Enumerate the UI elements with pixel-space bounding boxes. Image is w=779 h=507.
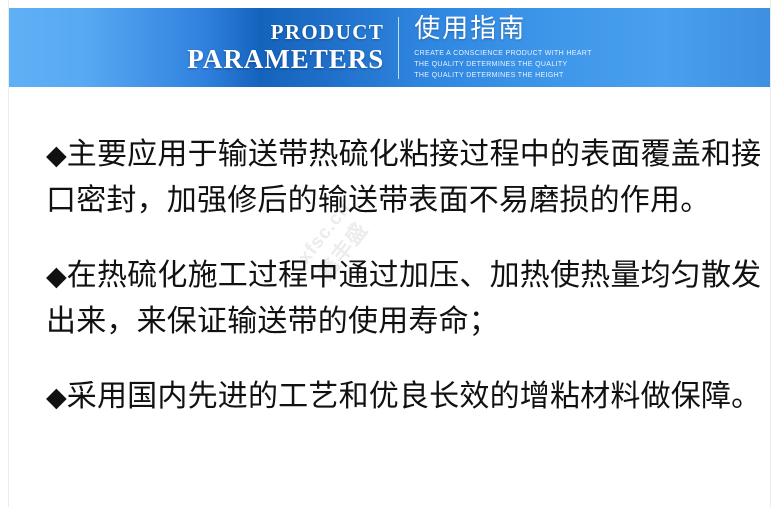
header-subtitle-line-3: THE QUALITY DETERMINES THE HEIGHT (414, 70, 591, 81)
header-chinese-block: 使用指南 CREATE A CONSCIENCE PRODUCT WITH HE… (399, 14, 591, 81)
description-paragraph-1: ◆主要应用于输送带热硫化粘接过程中的表面覆盖和接口密封，加强修后的输送带表面不易… (46, 132, 766, 223)
header-subtitle-line-1: CREATE A CONSCIENCE PRODUCT WITH HEART (414, 48, 591, 59)
header-subtitle-line-2: THE QUALITY DETERMINES THE QUALITY (414, 59, 591, 70)
bullet-diamond-icon-3: ◆ (46, 382, 67, 412)
page-border-right (770, 0, 771, 507)
description-paragraph-2: ◆在热硫化施工过程中通过加压、加热使热量均匀散发出来，来保证输送带的使用寿命； (46, 253, 766, 344)
description-content: ◆主要应用于输送带热硫化粘接过程中的表面覆盖和接口密封，加强修后的输送带表面不易… (46, 102, 766, 450)
description-paragraph-3-text: 采用国内先进的工艺和优良长效的增粘材料做保障。 (67, 380, 762, 413)
header-chinese-title: 使用指南 (414, 14, 591, 44)
bullet-diamond-icon-1: ◆ (46, 140, 67, 170)
description-paragraph-3: ◆采用国内先进的工艺和优良长效的增粘材料做保障。 (46, 374, 766, 420)
description-paragraph-2-text: 在热硫化施工过程中通过加压、加热使热量均匀散发出来，来保证输送带的使用寿命； (46, 259, 761, 338)
description-paragraph-1-text: 主要应用于输送带热硫化粘接过程中的表面覆盖和接口密封，加强修后的输送带表面不易磨… (46, 138, 761, 217)
header-vertical-divider (398, 17, 399, 79)
header-title-parameters: PARAMETERS (187, 46, 384, 73)
bullet-diamond-icon-2: ◆ (46, 261, 67, 291)
header-title-product: PRODUCT (187, 22, 384, 43)
product-parameters-page: PRODUCT PARAMETERS 使用指南 CREATE A CONSCIE… (0, 0, 779, 507)
header-banner-content: PRODUCT PARAMETERS 使用指南 CREATE A CONSCIE… (9, 8, 770, 87)
header-english-title: PRODUCT PARAMETERS (187, 22, 398, 73)
header-banner: PRODUCT PARAMETERS 使用指南 CREATE A CONSCIE… (9, 8, 770, 87)
